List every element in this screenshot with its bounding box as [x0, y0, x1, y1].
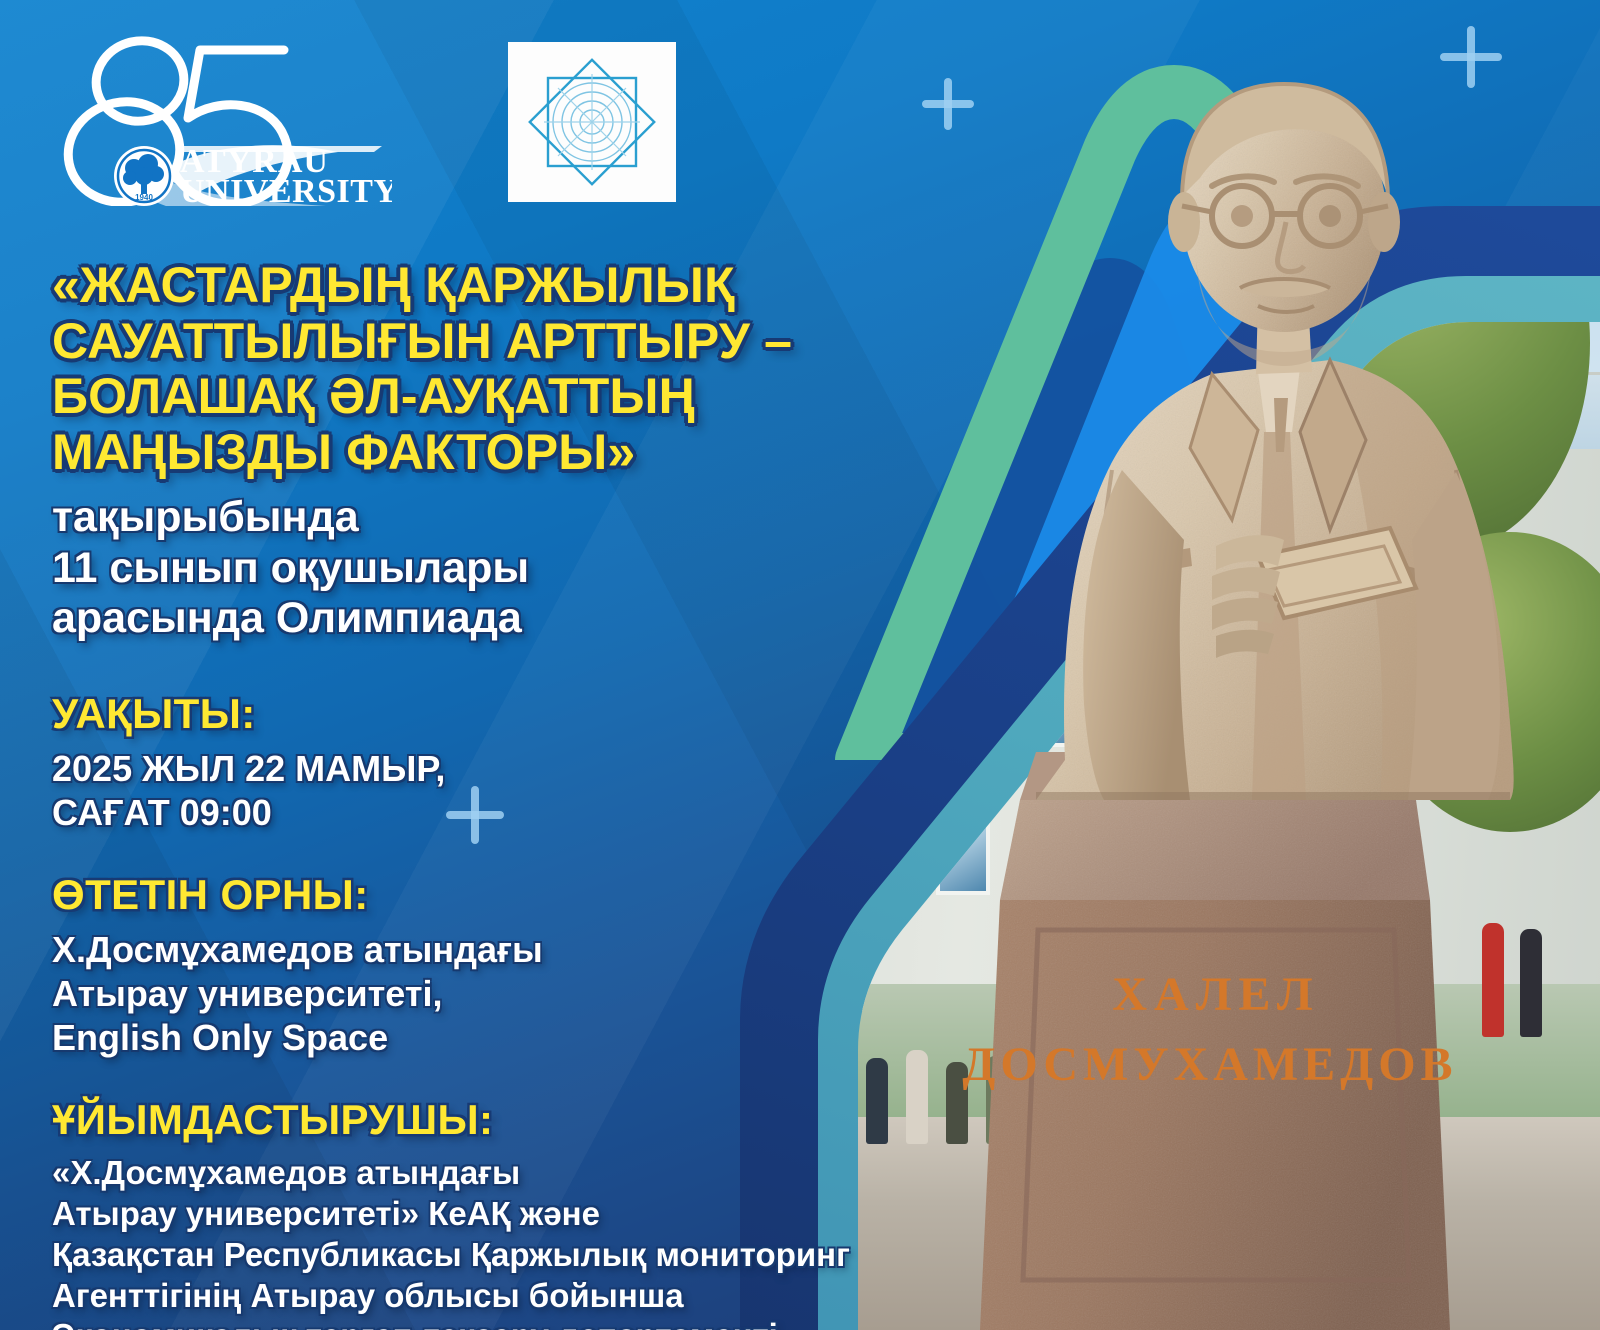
organizer-value-line: Атырау университеті» КеАҚ және: [52, 1194, 952, 1235]
person-silhouette: [1106, 1052, 1128, 1144]
person-silhouette: [1026, 1054, 1048, 1144]
logo-row: 1940 ATYRAU UNIVERSITY: [52, 26, 676, 202]
organizer-value-line: «Х.Досмұхамедов атындағы: [52, 1153, 952, 1194]
financial-monitoring-agency-logo: [508, 42, 676, 202]
person-silhouette: [946, 1062, 968, 1144]
person-silhouette: [1146, 1058, 1168, 1144]
section-venue: ӨТЕТІН ОРНЫ: Х.Досмұхамедов атындағы Аты…: [52, 871, 932, 1060]
section-organizer: ҰЙЫМДАСТЫРУШЫ: «Х.Досмұхамедов атындағы …: [52, 1096, 932, 1330]
person-silhouette: [986, 1056, 1008, 1144]
person-silhouette: [1066, 1060, 1088, 1144]
poster-title: «ЖАСТАРДЫҢ ҚАРЖЫЛЫҚ САУАТТЫЛЫҒЫН АРТТЫРУ…: [52, 258, 932, 480]
organizer-value-line: Агенттігінің Атырау облысы бойынша: [52, 1276, 952, 1317]
poster-text-content: «ЖАСТАРДЫҢ ҚАРЖЫЛЫҚ САУАТТЫЛЫҒЫН АРТТЫРУ…: [52, 258, 932, 1330]
organizer-label: ҰЙЫМДАСТЫРУШЫ:: [52, 1096, 932, 1143]
venue-label: ӨТЕТІН ОРНЫ:: [52, 871, 932, 918]
logo-text-university: UNIVERSITY: [180, 173, 392, 206]
time-label: УАҚЫТЫ:: [52, 690, 932, 737]
person-silhouette: [1520, 929, 1542, 1037]
organizer-value-line: Экономикалық тергеп-тексеру департаменті: [52, 1316, 952, 1330]
emblem-year: 1940: [135, 193, 153, 202]
subtitle-line: 11 сынып оқушылары: [52, 543, 932, 594]
time-value: 2025 ЖЫЛ 22 МАМЫР, САҒАТ 09:00: [52, 747, 932, 835]
section-time: УАҚЫТЫ: 2025 ЖЫЛ 22 МАМЫР, САҒАТ 09:00: [52, 690, 932, 835]
poster-canvas: ХАМЕДОВ АТЫ СИТЕ: [0, 0, 1600, 1330]
venue-value-line: Атырау университеті,: [52, 972, 932, 1016]
subtitle-line: арасында Олимпиада: [52, 593, 932, 644]
time-value-line: САҒАТ 09:00: [52, 791, 932, 835]
anniversary-85-logo: 1940 ATYRAU UNIVERSITY: [52, 26, 392, 201]
organizer-value-line: Қазақстан Республикасы Қаржылық монитори…: [52, 1235, 952, 1276]
tree-icon: [1290, 133, 1590, 553]
venue-value-line: Х.Досмұхамедов атындағы: [52, 928, 932, 972]
venue-value-line: English Only Space: [52, 1016, 932, 1060]
poster-subtitle: тақырыбында 11 сынып оқушылары арасында …: [52, 492, 932, 644]
organizer-value: «Х.Досмұхамедов атындағы Атырау универси…: [52, 1153, 952, 1330]
person-silhouette: [1482, 923, 1504, 1037]
person-silhouette: [1410, 927, 1432, 1037]
time-value-line: 2025 ЖЫЛ 22 МАМЫР,: [52, 747, 932, 791]
subtitle-line: тақырыбында: [52, 492, 932, 543]
venue-value: Х.Досмұхамедов атындағы Атырау университ…: [52, 928, 932, 1060]
